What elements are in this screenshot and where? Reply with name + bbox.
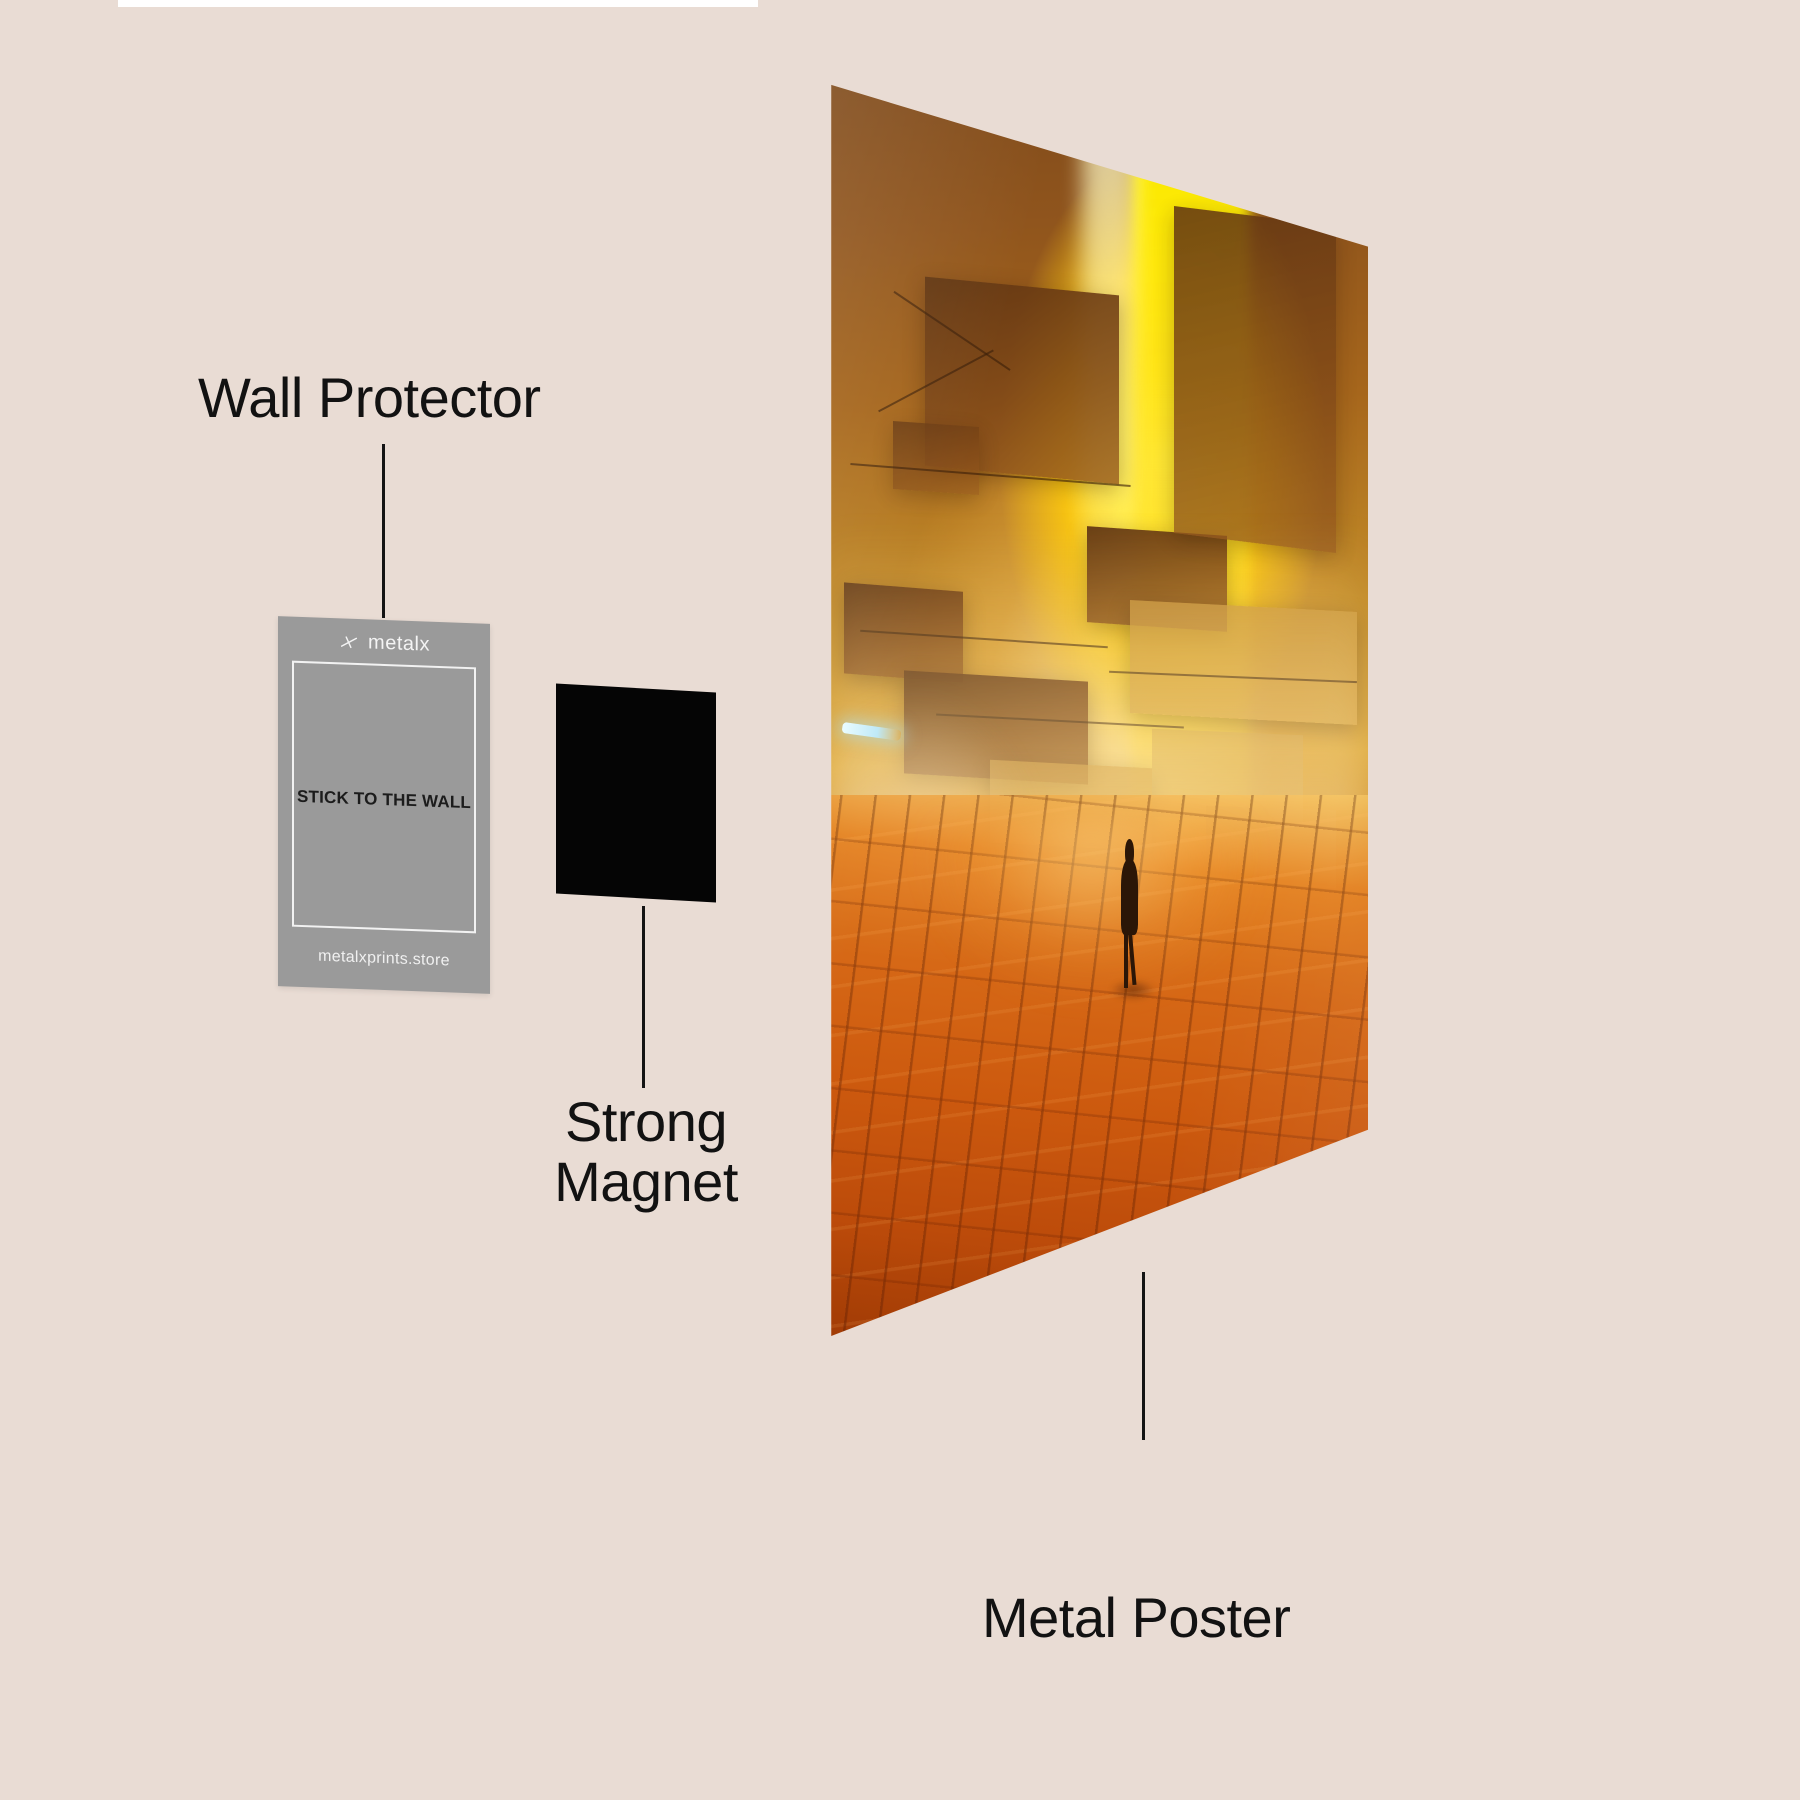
leader-line-wall-protector	[382, 444, 385, 618]
art-ground-shine	[911, 817, 1273, 1196]
label-strong-magnet: Strong Magnet	[548, 1092, 744, 1213]
art-slab	[1174, 206, 1336, 553]
label-wall-protector: Wall Protector	[198, 368, 541, 428]
metalx-wordmark: metalx	[368, 631, 430, 656]
leader-line-metal-poster	[1142, 1272, 1145, 1440]
top-white-strip	[118, 0, 758, 7]
label-metal-poster: Metal Poster	[982, 1588, 1290, 1648]
cross-slash-icon	[338, 631, 360, 654]
figure-leg-left	[1124, 927, 1128, 988]
card-url: metalxprints.store	[278, 946, 490, 972]
figure-leg-right	[1128, 927, 1137, 985]
wall-protector-card: metalx STICK TO THE WALL metalxprints.st…	[278, 616, 490, 994]
poster-art-layers	[828, 78, 1368, 1336]
metal-poster-artwork	[828, 78, 1368, 1336]
art-ground-plane	[828, 795, 1368, 1336]
infographic-canvas: metalx STICK TO THE WALL metalxprints.st…	[0, 0, 1800, 1800]
art-slab	[893, 421, 979, 495]
metalx-logo: metalx	[278, 628, 490, 659]
figure-torso	[1121, 860, 1138, 936]
strong-magnet-square	[556, 684, 716, 903]
leader-line-strong-magnet	[642, 906, 645, 1088]
art-walking-figure	[1117, 839, 1141, 985]
